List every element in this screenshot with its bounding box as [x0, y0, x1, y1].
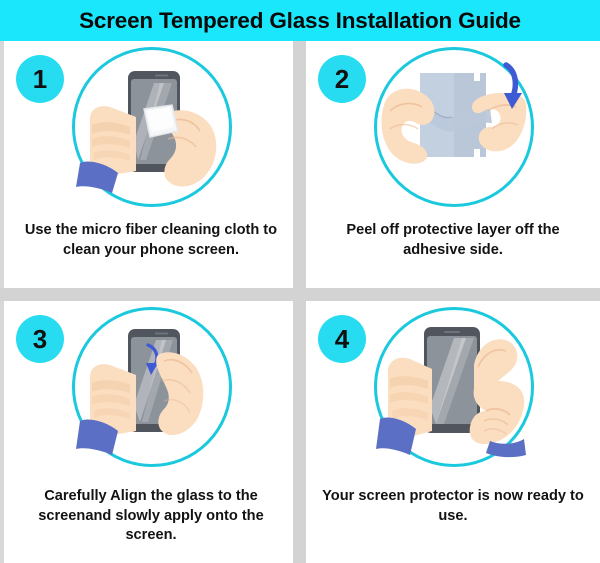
step-number-badge-4: 4: [318, 315, 366, 363]
step-panel-3: 3: [4, 301, 298, 563]
step-number-badge-2: 2: [318, 55, 366, 103]
steps-grid: 1: [0, 41, 600, 563]
hand-aligning-glass-on-phone-icon: [72, 307, 232, 467]
step-illustration-2: [374, 47, 534, 207]
step-number-badge-3: 3: [16, 315, 64, 363]
header-bar: Screen Tempered Glass Installation Guide: [0, 0, 600, 41]
installation-guide-infographic: Screen Tempered Glass Installation Guide…: [0, 0, 600, 563]
step-number-label: 1: [33, 64, 47, 95]
step-illustration-3: [72, 307, 232, 467]
step-illustration-4: [374, 307, 534, 467]
step-number-badge-1: 1: [16, 55, 64, 103]
step-caption-3: Carefully Align the glass to the screena…: [12, 487, 290, 546]
step-panel-1: 1: [4, 41, 298, 288]
step-number-label: 2: [335, 64, 349, 95]
step-number-label: 4: [335, 324, 349, 355]
page-title: Screen Tempered Glass Installation Guide: [79, 8, 521, 34]
thumbs-up-icon: [470, 339, 525, 444]
hand-holding-phone-with-thumbs-up-icon: [374, 307, 534, 467]
phone-icon: [424, 327, 480, 433]
two-hands-peeling-protective-film-icon: [374, 47, 534, 207]
step-number-label: 3: [33, 324, 47, 355]
step-panel-2: 2: [306, 41, 600, 288]
step-illustration-1: [72, 47, 232, 207]
hand-cleaning-phone-with-cloth-icon: [72, 47, 232, 207]
step-panel-4: 4: [306, 301, 600, 563]
step-caption-4: Your screen protector is now ready to us…: [314, 487, 592, 526]
step-caption-2: Peel off protective layer off the adhesi…: [314, 221, 592, 260]
step-caption-1: Use the micro fiber cleaning cloth to cl…: [12, 221, 290, 260]
cloth-icon: [144, 105, 178, 137]
